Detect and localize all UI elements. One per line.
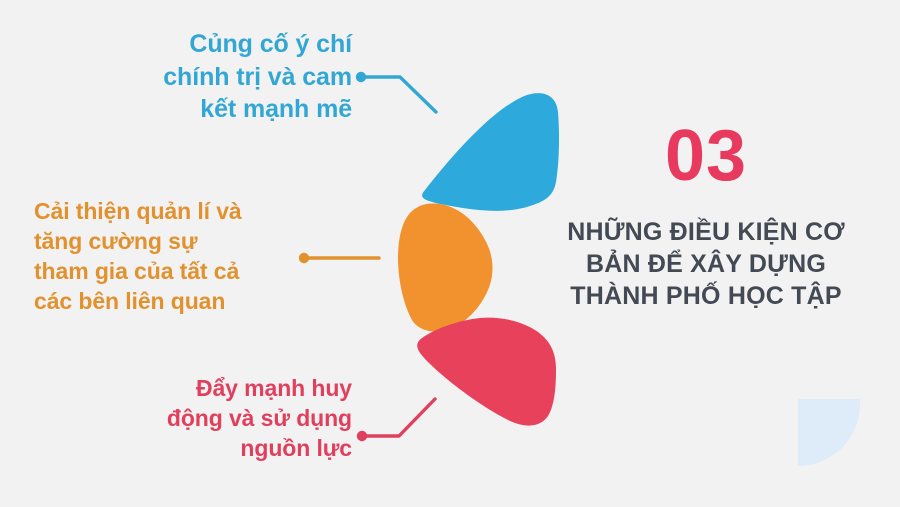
callout-text-pink: Đẩy mạnh huy động và sử dụng nguồn lực	[100, 374, 352, 464]
connector-orange	[299, 253, 379, 263]
section-number: 03	[520, 122, 892, 190]
right-panel: 03 NHỮNG ĐIỀU KIỆN CƠ BẢN ĐỂ XÂY DỰNG TH…	[520, 122, 892, 312]
connector-dot-orange	[299, 253, 309, 263]
corner-decoration-shape	[798, 399, 860, 466]
connector-dot-pink	[357, 431, 367, 441]
diagram-segment-pink[interactable]	[417, 318, 556, 426]
callout-text-orange: Cải thiện quản lí và tăng cường sự tham …	[34, 197, 296, 317]
slide-canvas: Củng cố ý chí chính trị và cam kết mạnh …	[0, 0, 900, 507]
diagram-segment-orange[interactable]	[398, 204, 493, 332]
callout-text-blue: Củng cố ý chí chính trị và cam kết mạnh …	[120, 28, 352, 126]
page-title: NHỮNG ĐIỀU KIỆN CƠ BẢN ĐỂ XÂY DỰNG THÀNH…	[520, 216, 892, 312]
connector-dot-blue	[356, 72, 366, 82]
